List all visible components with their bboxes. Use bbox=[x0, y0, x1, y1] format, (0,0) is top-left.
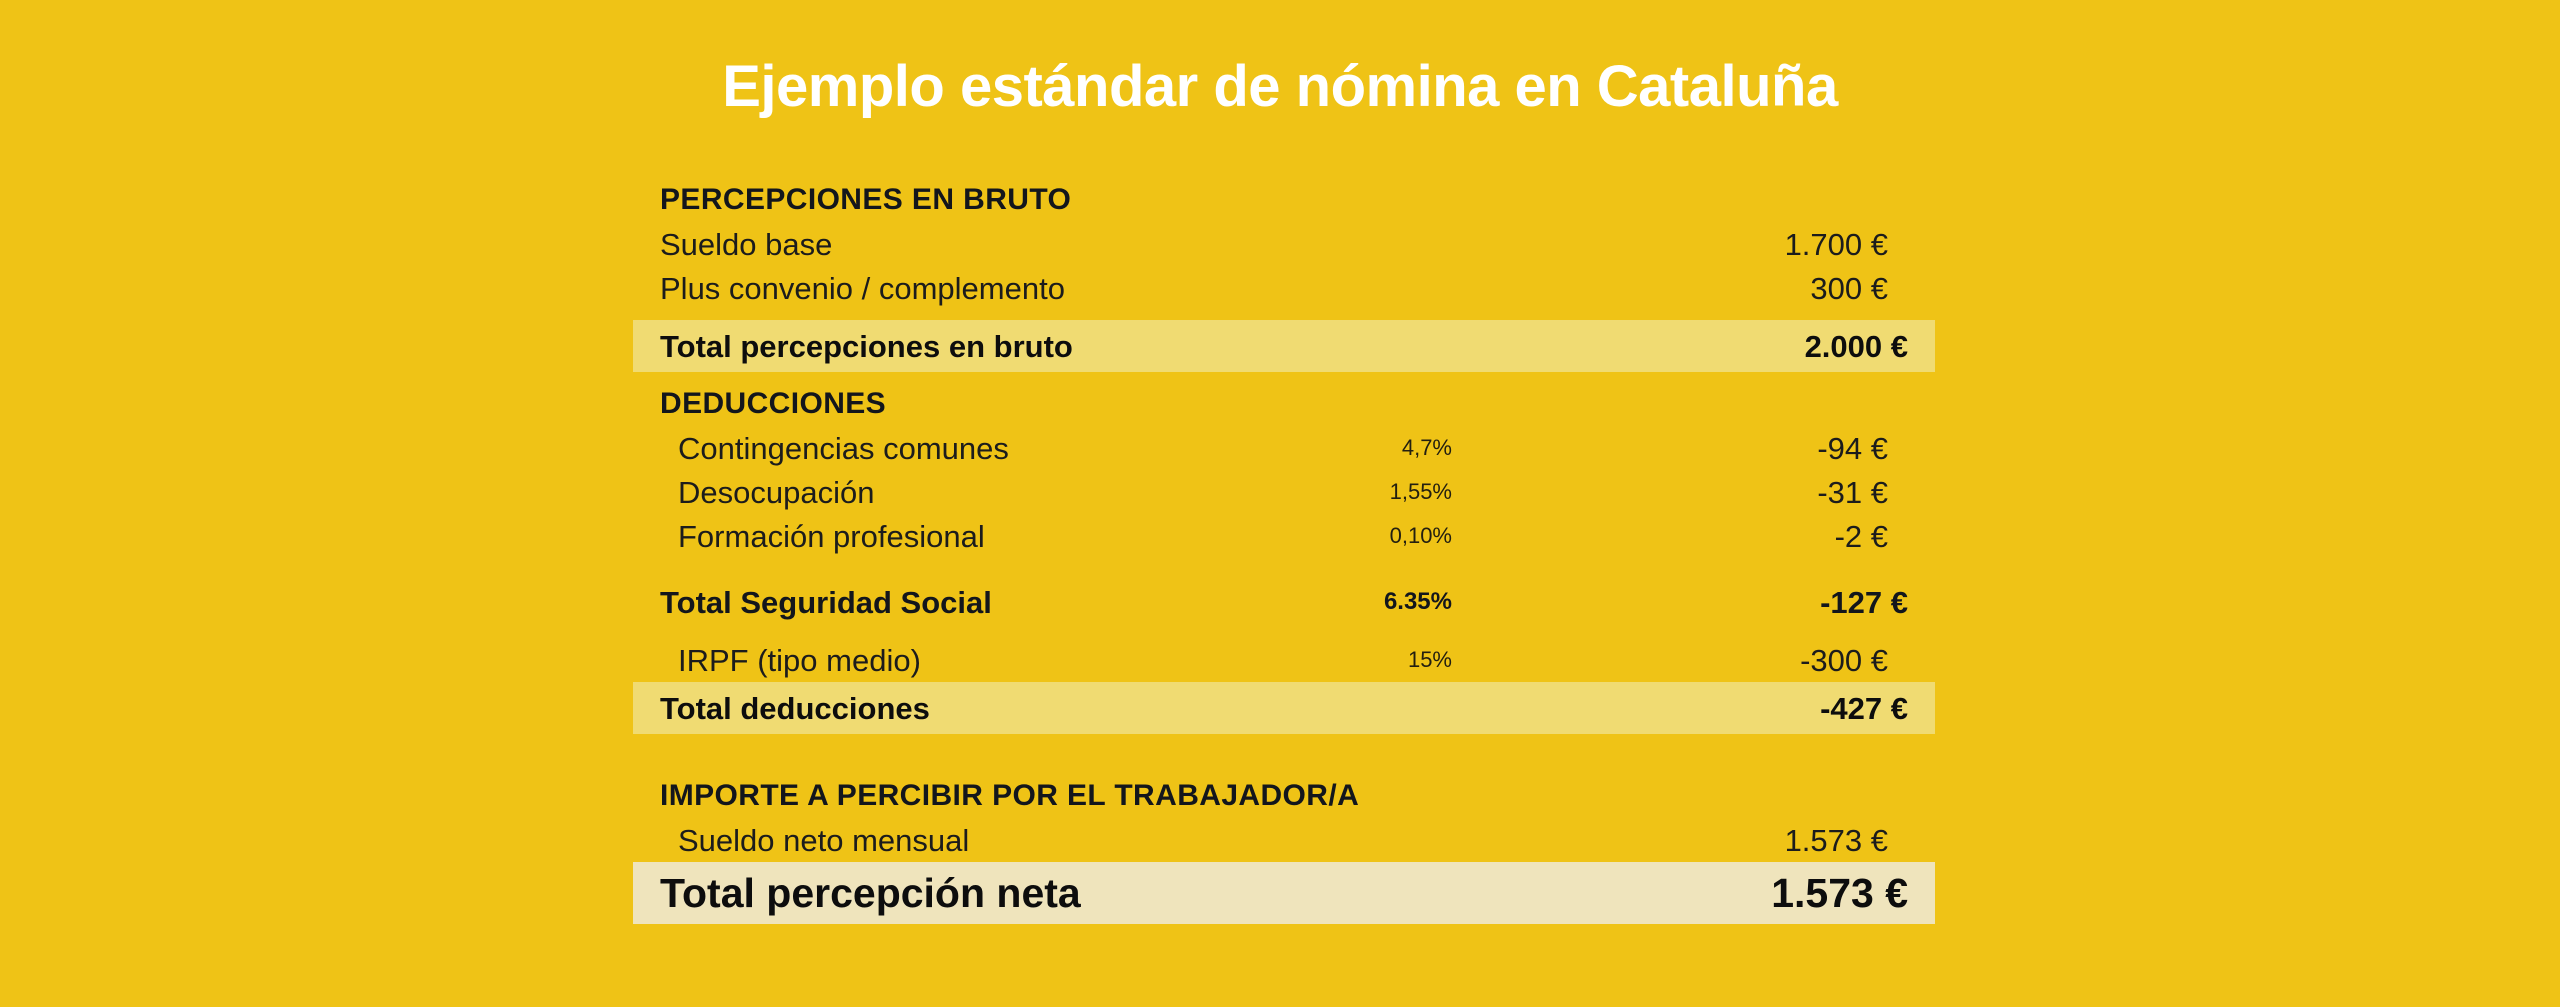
row-label: Desocupación bbox=[660, 477, 874, 508]
row-percent: 15% bbox=[1408, 649, 1452, 671]
table-row: Sueldo base 1.700 € bbox=[633, 222, 1935, 266]
total-amount: 1.573 € bbox=[1771, 873, 1908, 914]
row-amount: -2 € bbox=[1835, 521, 1908, 552]
row-label: Formación profesional bbox=[660, 521, 985, 552]
section-heading-net: IMPORTE A PERCIBIR POR EL TRABAJADOR/A bbox=[633, 774, 1935, 818]
total-amount: -427 € bbox=[1820, 693, 1908, 724]
total-row-gross: Total percepciones en bruto 2.000 € bbox=[633, 320, 1935, 372]
row-amount: 1.573 € bbox=[1785, 825, 1908, 856]
row-amount: -94 € bbox=[1817, 433, 1908, 464]
section-heading-net-label: IMPORTE A PERCIBIR POR EL TRABAJADOR/A bbox=[660, 781, 1359, 811]
row-gap bbox=[633, 734, 1935, 774]
row-gap bbox=[633, 558, 1935, 576]
table-row: Plus convenio / complemento 300 € bbox=[633, 266, 1935, 310]
total-row-deductions: Total deducciones -427 € bbox=[633, 682, 1935, 734]
row-gap bbox=[633, 628, 1935, 638]
row-percent: 0,10% bbox=[1390, 525, 1452, 547]
payslip-page: Ejemplo estándar de nómina en Cataluña P… bbox=[0, 0, 2560, 1007]
row-amount: -31 € bbox=[1817, 477, 1908, 508]
row-amount: 300 € bbox=[1810, 273, 1908, 304]
table-row: Formación profesional 0,10% -2 € bbox=[633, 514, 1935, 558]
section-heading-gross: PERCEPCIONES EN BRUTO bbox=[633, 178, 1935, 222]
row-gap bbox=[633, 310, 1935, 320]
total-label: Total deducciones bbox=[660, 693, 930, 724]
row-label: Sueldo base bbox=[660, 229, 832, 260]
subtotal-percent: 6.35% bbox=[1384, 590, 1452, 614]
row-label: Sueldo neto mensual bbox=[660, 825, 969, 856]
total-label: Total percepciones en bruto bbox=[660, 331, 1073, 362]
table-row: Desocupación 1,55% -31 € bbox=[633, 470, 1935, 514]
total-row-net: Total percepción neta 1.573 € bbox=[633, 862, 1935, 924]
row-label: IRPF (tipo medio) bbox=[660, 645, 921, 676]
section-heading-deductions-label: DEDUCCIONES bbox=[660, 389, 886, 419]
page-title: Ejemplo estándar de nómina en Cataluña bbox=[0, 58, 2560, 116]
section-heading-deductions: DEDUCCIONES bbox=[633, 382, 1935, 426]
row-percent: 1,55% bbox=[1390, 481, 1452, 503]
row-gap bbox=[633, 372, 1935, 382]
row-label: Plus convenio / complemento bbox=[660, 273, 1065, 304]
subtotal-label: Total Seguridad Social bbox=[660, 587, 992, 618]
total-amount: 2.000 € bbox=[1805, 331, 1908, 362]
section-heading-gross-label: PERCEPCIONES EN BRUTO bbox=[660, 185, 1071, 215]
row-amount: -300 € bbox=[1800, 645, 1908, 676]
row-percent: 4,7% bbox=[1402, 437, 1452, 459]
row-amount: 1.700 € bbox=[1785, 229, 1908, 260]
row-label: Contingencias comunes bbox=[660, 433, 1009, 464]
table-row: Contingencias comunes 4,7% -94 € bbox=[633, 426, 1935, 470]
subtotal-row-social-security: Total Seguridad Social 6.35% -127 € bbox=[633, 576, 1935, 628]
total-label: Total percepción neta bbox=[660, 873, 1081, 914]
subtotal-amount: -127 € bbox=[1820, 587, 1908, 618]
payslip-sheet: PERCEPCIONES EN BRUTO Sueldo base 1.700 … bbox=[633, 178, 1935, 924]
table-row: Sueldo neto mensual 1.573 € bbox=[633, 818, 1935, 862]
table-row-irpf: IRPF (tipo medio) 15% -300 € bbox=[633, 638, 1935, 682]
